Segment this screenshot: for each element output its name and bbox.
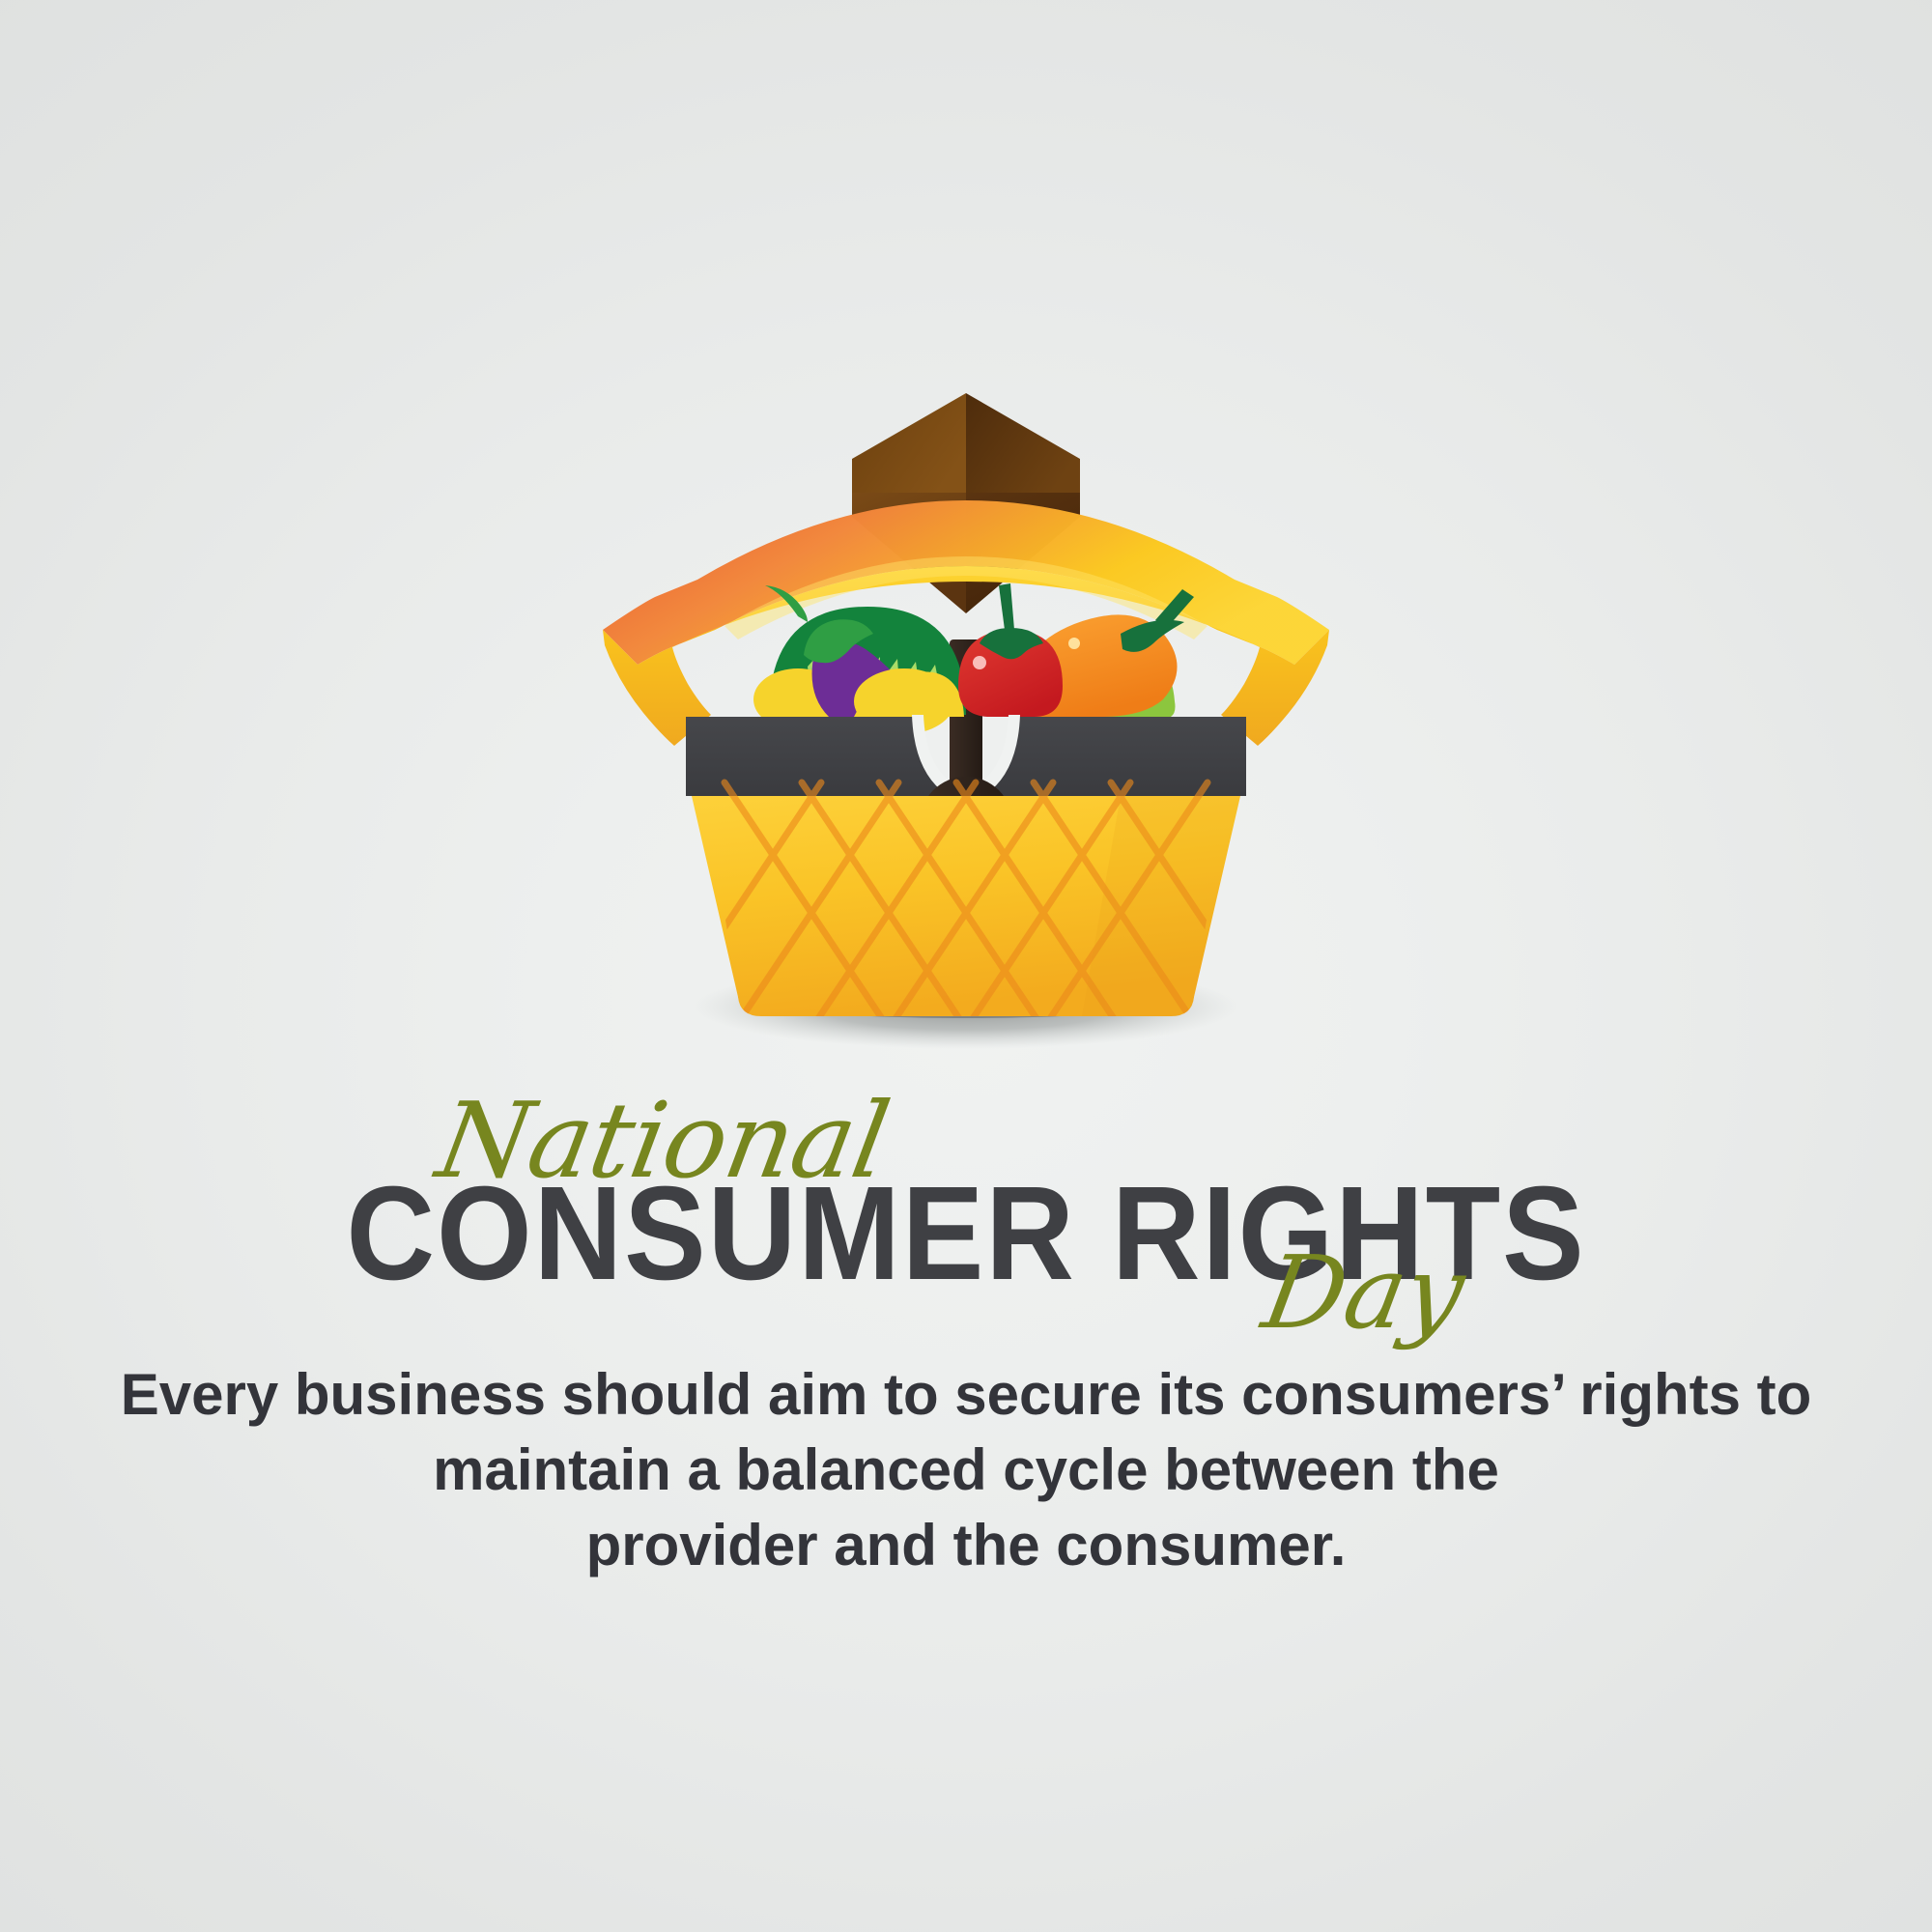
tagline-line-1: Every business should aim to secure its …	[0, 1357, 1932, 1433]
shopping-basket-illustration	[580, 377, 1352, 1140]
poster-canvas: National CONSUMER RIGHTS Day Every busin…	[0, 0, 1932, 1932]
title-block: National CONSUMER RIGHTS Day	[0, 1090, 1932, 1370]
tomato-stem	[999, 583, 1014, 630]
tagline-line-3: provider and the consumer.	[0, 1508, 1932, 1583]
title-script-day: Day	[1257, 1242, 1471, 1343]
page-title: CONSUMER RIGHTS	[77, 1167, 1855, 1300]
tagline: Every business should aim to secure its …	[0, 1357, 1932, 1583]
basket-body	[647, 782, 1285, 1043]
tagline-line-2: maintain a balanced cycle between the	[0, 1433, 1932, 1508]
